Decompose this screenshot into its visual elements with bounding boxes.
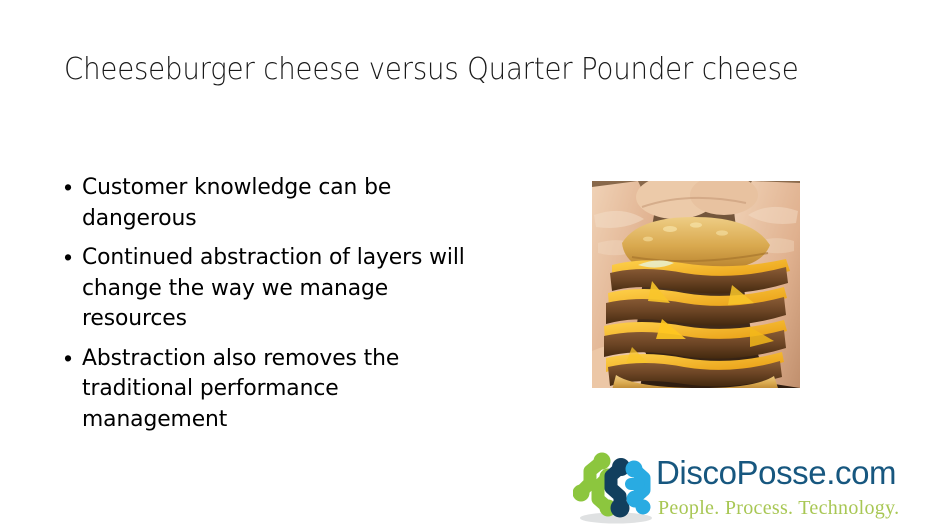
logo-wordmark: DiscoPosse.com [656, 454, 896, 492]
slide-canvas: Cheeseburger cheese versus Quarter Pound… [0, 0, 941, 529]
logo-tagline: People. Process. Technology. [658, 496, 899, 520]
list-item: • Customer knowledge can be dangerous [62, 172, 482, 233]
list-item-label: Continued abstraction of layers will cha… [82, 242, 470, 334]
discoposse-logo[interactable]: DiscoPosse.com People. Process. Technolo… [570, 448, 930, 526]
bullet-marker-icon: • [62, 343, 82, 373]
list-item: • Continued abstraction of layers will c… [62, 242, 482, 334]
list-item-label: Abstraction also removes the traditional… [82, 343, 470, 435]
stacked-cheeseburger-photo [592, 181, 800, 388]
list-item-label: Customer knowledge can be dangerous [82, 172, 470, 233]
discoposse-molecule-icon [573, 450, 655, 524]
bullet-marker-icon: • [62, 242, 82, 272]
bullet-list: • Customer knowledge can be dangerous • … [62, 172, 482, 443]
page-title: Cheeseburger cheese versus Quarter Pound… [64, 50, 828, 90]
bullet-marker-icon: • [62, 172, 82, 202]
list-item: • Abstraction also removes the tradition… [62, 343, 482, 435]
